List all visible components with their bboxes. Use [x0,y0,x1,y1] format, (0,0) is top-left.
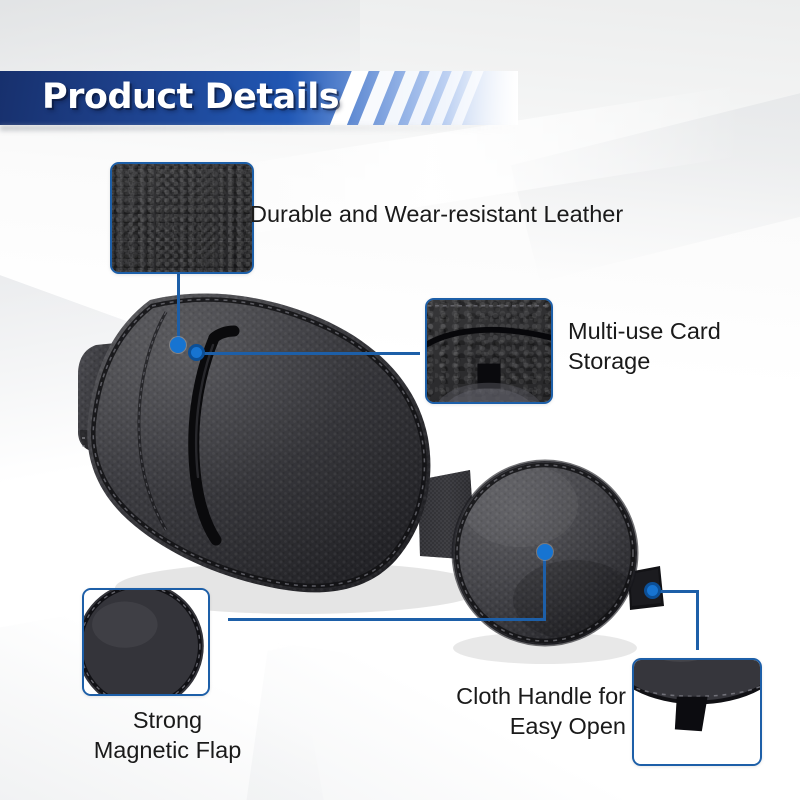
main-body [60,270,460,610]
label-cloth-handle: Cloth Handle for Easy Open [398,682,626,741]
round-magnetic-flap [450,458,664,653]
infographic-canvas: Product Details [0,0,800,800]
leather-texture-swatch [112,164,252,272]
marker-cloth-handle [644,582,661,599]
callout-card-storage[interactable] [425,298,553,404]
marker-card-storage [188,344,205,361]
callout-crop-round-flap [84,590,208,694]
marker-durable-leather [170,337,186,353]
banner-title: Product Details [42,77,339,117]
cloth-tab-closeup [634,660,760,764]
marker-magnetic-flap [537,544,553,560]
label-durable-leather: Durable and Wear-resistant Leather [250,200,623,230]
label-magnetic-flap: Strong Magnetic Flap [60,706,275,765]
leader-line-durable-leather [177,268,180,344]
leader-line-magnetic-flap-horz [228,618,546,621]
callout-durable-leather[interactable] [110,162,254,274]
card-slot-closeup [427,300,551,402]
leader-line-magnetic-flap-vert [543,552,546,620]
label-card-storage: Multi-use Card Storage [568,317,721,376]
callout-crop-cloth-tab [634,660,760,764]
callout-crop-card-slot [427,300,551,402]
leader-line-card-storage [196,352,420,355]
callout-magnetic-flap[interactable] [82,588,210,696]
round-flap-closeup [84,590,208,694]
callout-crop-leather-texture [112,164,252,272]
callout-cloth-handle[interactable] [632,658,762,766]
leader-line-cloth-handle-vert [696,590,699,650]
